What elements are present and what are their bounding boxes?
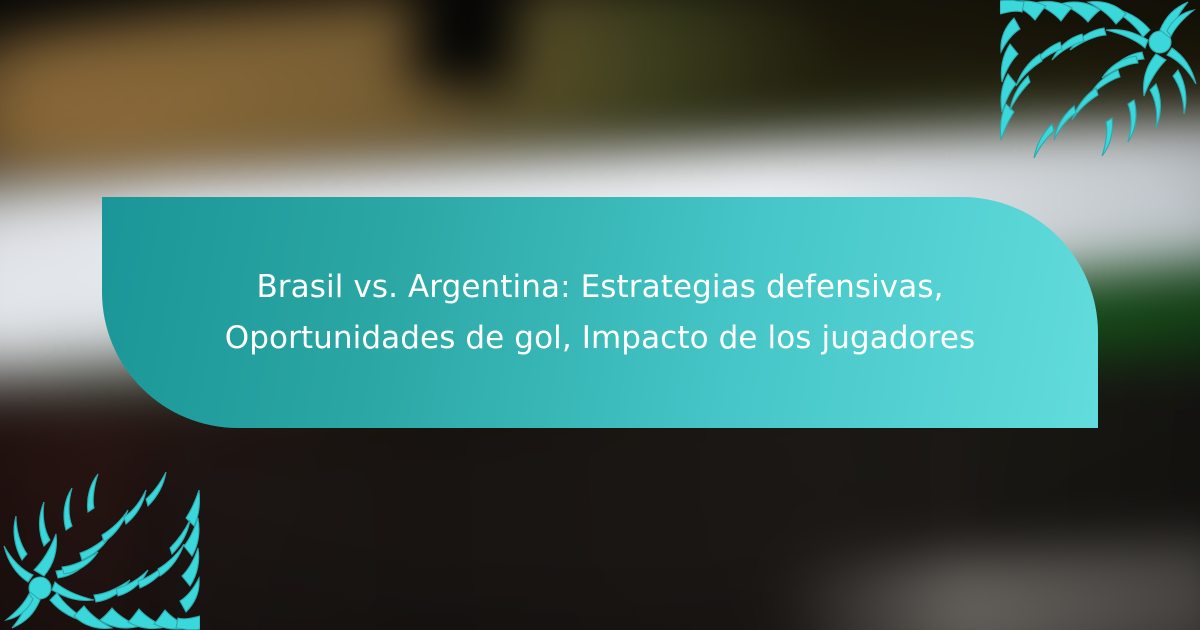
page-title: Brasil vs. Argentina: Estrategias defens… [170, 262, 1030, 362]
social-share-card: Brasil vs. Argentina: Estrategias defens… [0, 0, 1200, 630]
title-banner: Brasil vs. Argentina: Estrategias defens… [102, 197, 1098, 428]
